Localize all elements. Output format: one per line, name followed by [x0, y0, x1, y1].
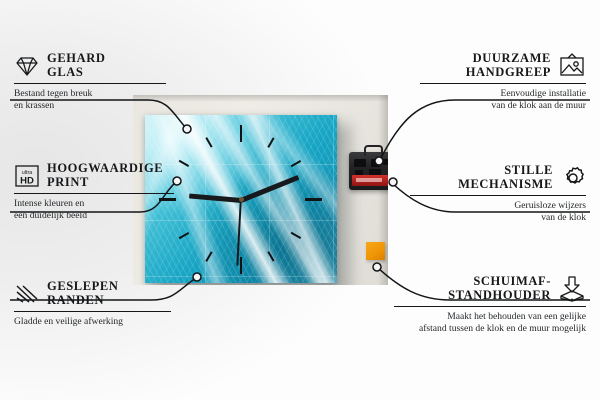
callout-title-line1: DUURZAME: [466, 52, 551, 66]
callout-schuimafstandhouder[interactable]: SCHUIMAF- STANDHOUDER Maakt het behouden…: [394, 275, 586, 335]
callout-divider: [14, 193, 174, 194]
callout-desc-line2: een duidelijk beeld: [14, 210, 189, 222]
callout-header: SCHUIMAF- STANDHOUDER: [394, 275, 586, 302]
callout-divider: [420, 83, 586, 84]
callout-desc-line2: van de klok: [410, 212, 586, 224]
callout-divider: [394, 306, 586, 307]
callout-header: ultra HD HOOGWAARDIGE PRINT: [14, 162, 189, 189]
clock-center-cap: [239, 197, 244, 202]
callout-title-line2: HANDGREEP: [466, 66, 551, 80]
callout-stille-mechanisme[interactable]: STILLE MECHANISME Geruisloze wijzers van…: [410, 164, 586, 224]
battery-label-stripe: [356, 178, 382, 182]
callout-desc-line1: Gladde en veilige afwerking: [14, 316, 184, 328]
callout-desc-line1: Bestand tegen breuk: [14, 88, 179, 100]
callout-title-line2: PRINT: [47, 176, 163, 190]
callout-desc-line1: Geruisloze wijzers: [410, 200, 586, 212]
callout-divider: [14, 311, 171, 312]
gear-icon: [560, 165, 586, 191]
callout-title-line2: MECHANISME: [458, 178, 553, 192]
clock-tick-3: [305, 198, 322, 201]
callout-duurzame-handgreep[interactable]: DUURZAME HANDGREEP Eenvoudige installati…: [420, 52, 586, 112]
callout-title-line2: STANDHOUDER: [448, 289, 551, 303]
callout-header: STILLE MECHANISME: [410, 164, 586, 191]
callout-header: GESLEPEN RANDEN: [14, 280, 184, 307]
callout-divider: [14, 83, 166, 84]
diamond-icon: [14, 55, 40, 77]
callout-title-line1: GEHARD: [47, 52, 105, 66]
mechanism-slot-c: [383, 159, 388, 165]
callout-title-line1: HOOGWAARDIGE: [47, 162, 163, 176]
callout-gehard-glas[interactable]: GEHARD GLAS Bestand tegen breuk en krass…: [14, 52, 179, 112]
callout-divider: [410, 195, 586, 196]
callout-desc-line2: afstand tussen de klok en de muur mogeli…: [394, 323, 586, 335]
mechanism-hanger-hook: [364, 145, 383, 156]
press-spacer-icon: [558, 276, 586, 302]
clock-mechanism: [349, 152, 388, 190]
callout-geslepen-randen[interactable]: GESLEPEN RANDEN Gladde en veilige afwerk…: [14, 280, 184, 328]
callout-header: DUURZAME HANDGREEP: [420, 52, 586, 79]
wire-endpoint-stille-mechanisme: [389, 178, 397, 186]
svg-text:HD: HD: [20, 175, 34, 186]
infographic-canvas: GEHARD GLAS Bestand tegen breuk en krass…: [0, 0, 600, 400]
mechanism-slot-a: [354, 159, 366, 167]
callout-title-line1: SCHUIMAF-: [448, 275, 551, 289]
callout-title-line2: RANDEN: [47, 294, 119, 308]
diagonal-lines-icon: [14, 283, 40, 305]
callout-desc-line1: Eenvoudige installatie: [420, 88, 586, 100]
callout-title-line2: GLAS: [47, 66, 105, 80]
mechanism-slot-b: [371, 159, 380, 167]
clock-tick-12: [240, 125, 242, 142]
callout-desc-line2: van de klok aan de muur: [420, 100, 586, 112]
callout-desc-line1: Intense kleuren en: [14, 198, 189, 210]
clock-tick-6: [240, 257, 242, 274]
callout-title-line1: GESLEPEN: [47, 280, 119, 294]
callout-desc-line1: Maakt het behouden van een gelijke: [394, 311, 586, 323]
hanging-picture-icon: [558, 53, 586, 79]
clock-battery: [352, 175, 388, 186]
callout-header: GEHARD GLAS: [14, 52, 179, 79]
callout-desc-line2: en krassen: [14, 100, 179, 112]
ultra-hd-icon: ultra HD: [14, 164, 40, 188]
foam-spacer: [366, 242, 385, 260]
callout-title-line1: STILLE: [458, 164, 553, 178]
callout-hoogwaardige-print[interactable]: ultra HD HOOGWAARDIGE PRINT Intense kleu…: [14, 162, 189, 222]
